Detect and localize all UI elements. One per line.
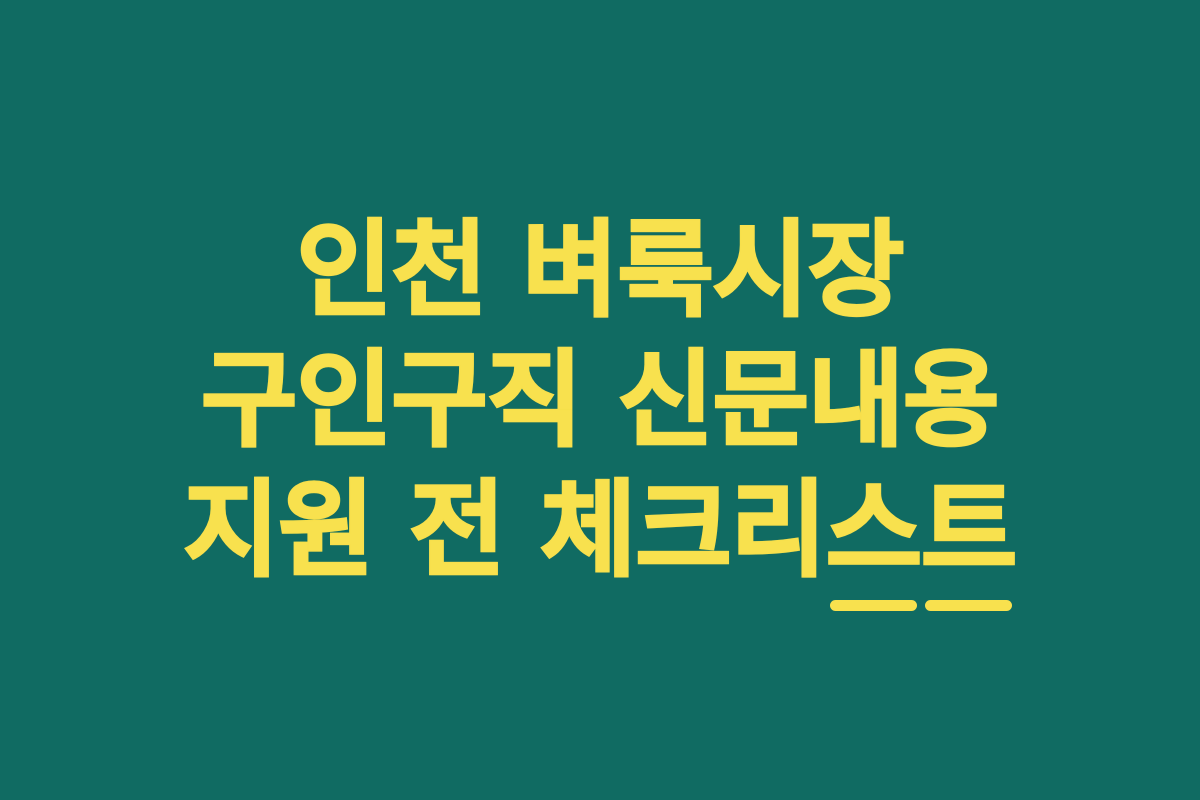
title-block: 인천 벼룩시장 구인구직 신문내용 지원 전 체크리스트 [95,205,1105,595]
title-tail-glyph-2: 트 [921,465,1016,595]
page-title: 인천 벼룩시장 구인구직 신문내용 지원 전 체크리스트 [95,205,1105,595]
poster-canvas: 인천 벼룩시장 구인구직 신문내용 지원 전 체크리스트 [0,0,1200,800]
title-tail-underlined: 스트 [826,465,1016,595]
title-tail-glyph-1: 스 [826,465,921,595]
